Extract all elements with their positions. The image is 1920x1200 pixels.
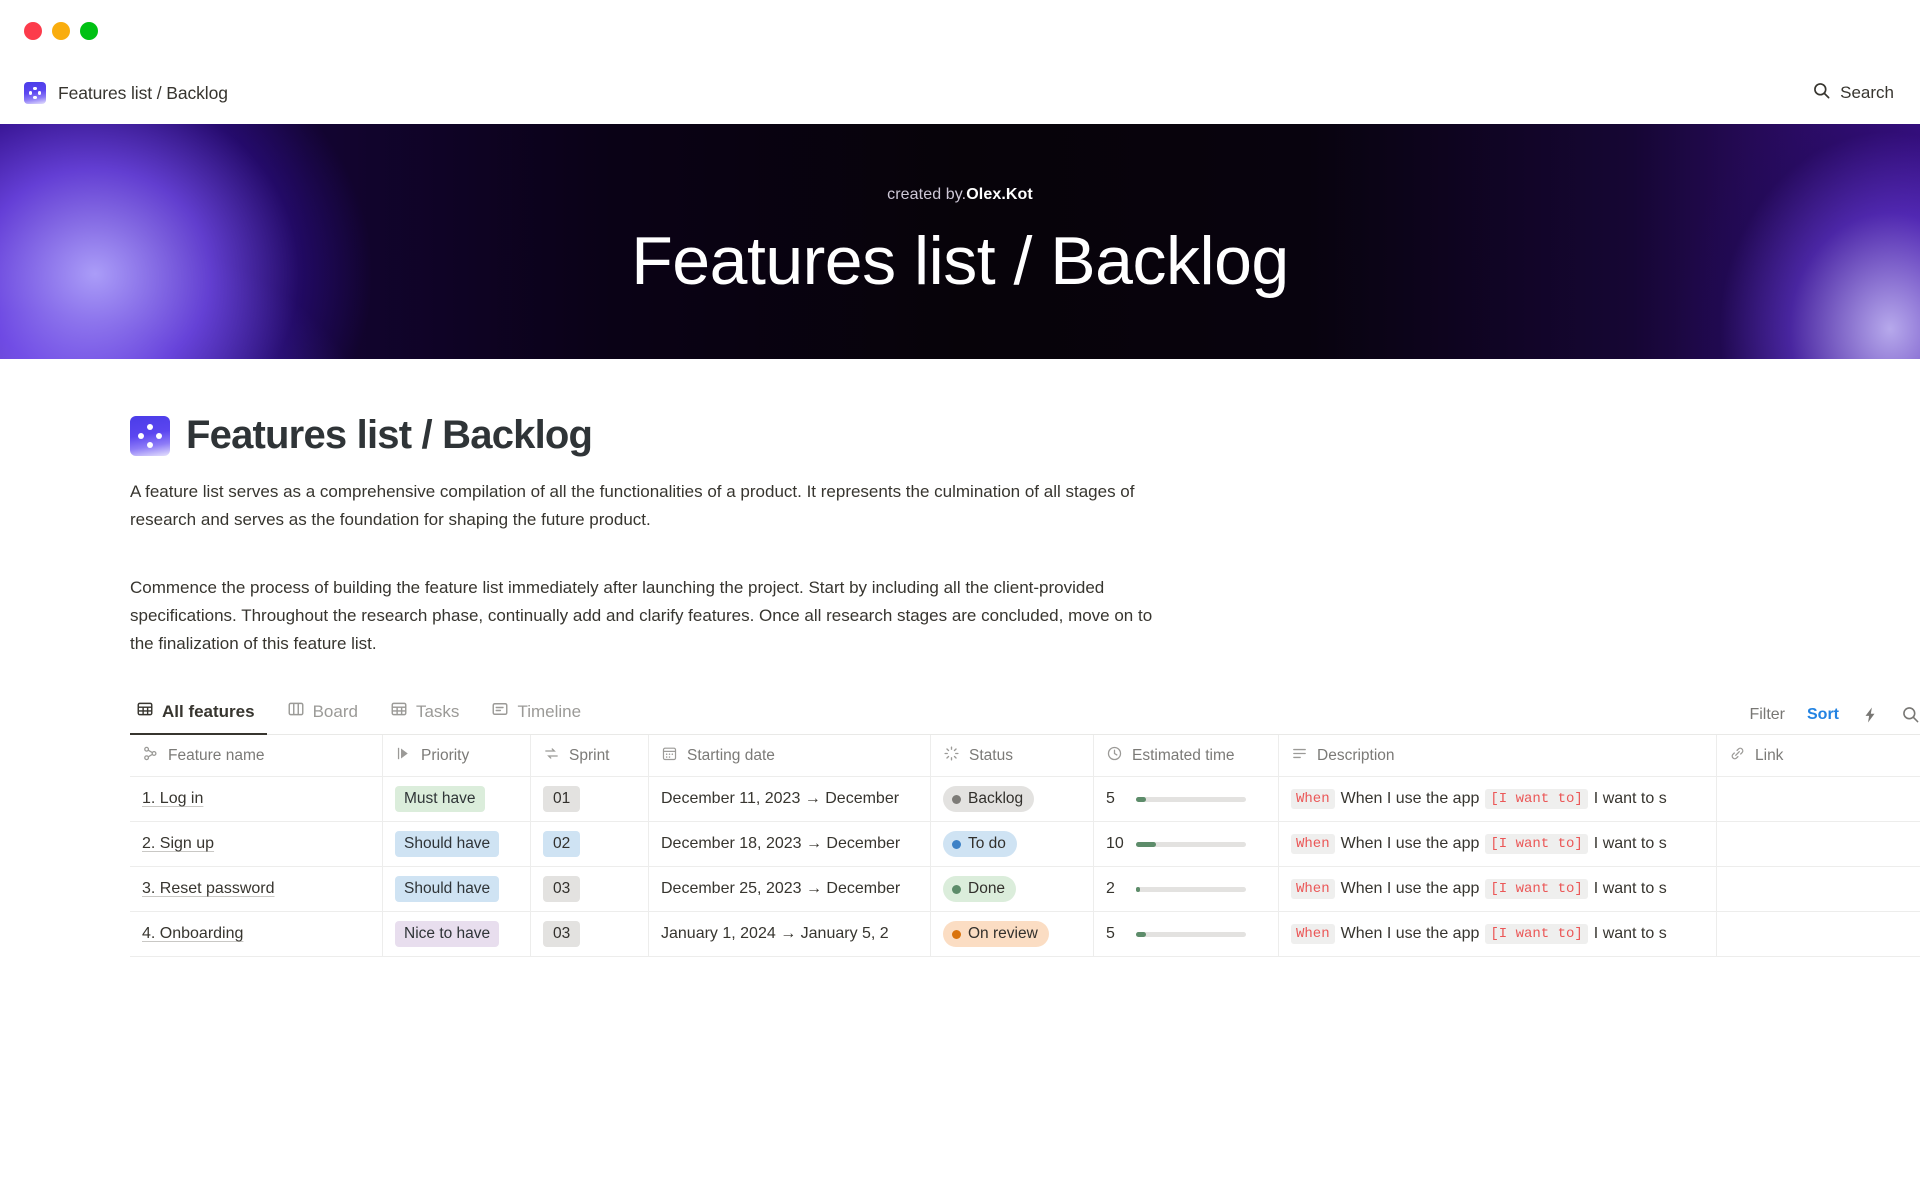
cell-priority[interactable]: Must have [383, 777, 531, 821]
column-header-link[interactable]: Link [1717, 735, 1920, 776]
relation-icon [142, 745, 159, 767]
sparkle-square-icon [130, 416, 170, 456]
breadcrumb[interactable]: Features list / Backlog [24, 82, 228, 104]
text-lines-icon [1291, 745, 1308, 767]
column-header-status[interactable]: Status [931, 735, 1094, 776]
description-tag-when: When [1291, 789, 1335, 809]
banner-credit: created by.Olex.Kot [631, 186, 1288, 204]
refresh-icon [543, 745, 560, 767]
status-label: Done [968, 880, 1005, 898]
cell-sprint[interactable]: 03 [531, 912, 649, 956]
column-header-label: Estimated time [1132, 747, 1235, 765]
cell-starting-date[interactable]: December 25, 2023 → December [649, 867, 931, 911]
column-header-label: Description [1317, 747, 1395, 765]
estimate-value: 10 [1106, 835, 1126, 853]
cell-description[interactable]: When When I use the app [I want to] I wa… [1279, 912, 1717, 956]
view-tabs: All features Board [130, 696, 593, 734]
table-row[interactable]: 4. Onboarding Nice to have 03 January 1,… [130, 912, 1920, 957]
table-row[interactable]: 1. Log in Must have 01 December 11, 2023… [130, 777, 1920, 822]
feature-name-link[interactable]: 4. Onboarding [142, 925, 243, 943]
cell-estimated-time[interactable]: 5 [1094, 912, 1279, 956]
loading-icon [943, 745, 960, 767]
cell-link[interactable] [1717, 777, 1920, 821]
column-header-label: Feature name [168, 747, 265, 765]
description-text-2: I want to s [1594, 835, 1667, 853]
description-text-2: I want to s [1594, 925, 1667, 943]
description-text-1: When I use the app [1341, 925, 1480, 943]
minimize-window-button[interactable] [52, 22, 70, 40]
column-header-label: Sprint [569, 747, 610, 765]
page-paragraph-2: Commence the process of building the fea… [130, 574, 1155, 658]
estimate-value: 2 [1106, 880, 1126, 898]
column-header-label: Priority [421, 747, 469, 765]
cell-sprint[interactable]: 01 [531, 777, 649, 821]
column-header-feature-name[interactable]: Feature name [130, 735, 383, 776]
column-header-starting-date[interactable]: Starting date [649, 735, 931, 776]
view-actions: Filter Sort [1749, 705, 1920, 734]
feature-name-link[interactable]: 1. Log in [142, 790, 203, 808]
sprint-badge: 03 [543, 876, 580, 902]
banner-credit-prefix: created by. [887, 186, 966, 203]
hero-banner: created by.Olex.Kot Features list / Back… [0, 124, 1920, 359]
cell-sprint[interactable]: 02 [531, 822, 649, 866]
cell-sprint[interactable]: 03 [531, 867, 649, 911]
banner-credit-author: Olex.Kot [966, 186, 1033, 203]
estimate-progress-fill [1136, 797, 1146, 802]
sprint-badge: 01 [543, 786, 580, 812]
tab-timeline[interactable]: Timeline [485, 696, 593, 734]
sort-button[interactable]: Sort [1807, 706, 1839, 724]
cell-description[interactable]: When When I use the app [I want to] I wa… [1279, 822, 1717, 866]
lightning-icon[interactable] [1861, 706, 1879, 724]
cell-description[interactable]: When When I use the app [I want to] I wa… [1279, 777, 1717, 821]
description-text-1: When I use the app [1341, 880, 1480, 898]
search-icon[interactable] [1901, 705, 1920, 724]
priority-badge: Should have [395, 831, 499, 857]
banner-title: Features list / Backlog [631, 226, 1288, 297]
table-header-row: Feature name Priority [130, 735, 1920, 777]
cell-priority[interactable]: Should have [383, 822, 531, 866]
features-table: Feature name Priority [130, 735, 1920, 957]
tab-label: Tasks [416, 702, 459, 722]
description-code-i-want-to: [I want to] [1485, 789, 1587, 809]
search-button-label: Search [1840, 83, 1894, 103]
cell-feature-name[interactable]: 3. Reset password [130, 867, 383, 911]
cell-link[interactable] [1717, 867, 1920, 911]
play-flag-icon [395, 745, 412, 767]
description-tag-when: When [1291, 924, 1335, 944]
link-icon [1729, 745, 1746, 767]
status-label: Backlog [968, 790, 1023, 808]
cell-estimated-time[interactable]: 2 [1094, 867, 1279, 911]
feature-name-link[interactable]: 2. Sign up [142, 835, 214, 853]
table-icon [136, 700, 154, 723]
estimate-progress-fill [1136, 932, 1146, 937]
sprint-badge: 02 [543, 831, 580, 857]
page-title: Features list / Backlog [186, 413, 592, 458]
status-dot-icon [952, 795, 961, 804]
estimate-progress-bar [1136, 887, 1246, 892]
maximize-window-button[interactable] [80, 22, 98, 40]
feature-name-link[interactable]: 3. Reset password [142, 880, 275, 898]
estimate-value: 5 [1106, 790, 1126, 808]
priority-badge: Must have [395, 786, 485, 812]
cell-priority[interactable]: Should have [383, 867, 531, 911]
filter-button[interactable]: Filter [1749, 706, 1785, 724]
cell-feature-name[interactable]: 4. Onboarding [130, 912, 383, 956]
tab-board[interactable]: Board [281, 696, 370, 734]
search-icon [1812, 81, 1831, 105]
timeline-icon [491, 700, 509, 723]
cell-feature-name[interactable]: 2. Sign up [130, 822, 383, 866]
tab-all-features[interactable]: All features [130, 696, 267, 734]
tab-label: All features [162, 702, 255, 722]
description-code-i-want-to: [I want to] [1485, 924, 1587, 944]
page-paragraph-1: A feature list serves as a comprehensive… [130, 478, 1155, 534]
tab-label: Board [313, 702, 358, 722]
estimate-value: 5 [1106, 925, 1126, 943]
status-dot-icon [952, 885, 961, 894]
window-titlebar [0, 0, 1920, 62]
cell-starting-date[interactable]: December 18, 2023 → December [649, 822, 931, 866]
priority-badge: Nice to have [395, 921, 499, 947]
cell-description[interactable]: When When I use the app [I want to] I wa… [1279, 867, 1717, 911]
table-row[interactable]: 2. Sign up Should have 02 December 18, 2… [130, 822, 1920, 867]
column-header-label: Link [1755, 747, 1783, 765]
calendar-icon [661, 745, 678, 767]
clock-icon [1106, 745, 1123, 767]
cell-status[interactable]: To do [931, 822, 1094, 866]
description-code-i-want-to: [I want to] [1485, 879, 1587, 899]
close-window-button[interactable] [24, 22, 42, 40]
description-tag-when: When [1291, 879, 1335, 899]
cell-status[interactable]: On review [931, 912, 1094, 956]
cell-starting-date[interactable]: January 1, 2024 → January 5, 2 [649, 912, 931, 956]
column-header-label: Starting date [687, 747, 775, 765]
description-text-1: When I use the app [1341, 790, 1480, 808]
page-body: Features list / Backlog A feature list s… [0, 413, 1920, 957]
description-text-2: I want to s [1594, 880, 1667, 898]
status-dot-icon [952, 840, 961, 849]
cell-status[interactable]: Done [931, 867, 1094, 911]
database-view-bar: All features Board [130, 696, 1920, 735]
column-header-estimated-time[interactable]: Estimated time [1094, 735, 1279, 776]
traffic-lights [24, 22, 98, 40]
description-tag-when: When [1291, 834, 1335, 854]
cell-estimated-time[interactable]: 10 [1094, 822, 1279, 866]
cell-priority[interactable]: Nice to have [383, 912, 531, 956]
app-topbar: Features list / Backlog Search [0, 62, 1920, 124]
cell-feature-name[interactable]: 1. Log in [130, 777, 383, 821]
description-text-2: I want to s [1594, 790, 1667, 808]
cell-estimated-time[interactable]: 5 [1094, 777, 1279, 821]
estimate-progress-bar [1136, 797, 1246, 802]
table-row[interactable]: 3. Reset password Should have 03 Decembe… [130, 867, 1920, 912]
estimate-progress-bar [1136, 842, 1246, 847]
cell-starting-date[interactable]: December 11, 2023 → December [649, 777, 931, 821]
document-title: Features list / Backlog [58, 83, 228, 104]
estimate-progress-fill [1136, 887, 1140, 892]
status-badge: Done [943, 876, 1016, 902]
column-header-label: Status [969, 747, 1013, 765]
tab-tasks[interactable]: Tasks [384, 696, 471, 734]
estimate-progress-bar [1136, 932, 1246, 937]
status-dot-icon [952, 930, 961, 939]
cell-link[interactable] [1717, 822, 1920, 866]
status-label: To do [968, 835, 1006, 853]
column-header-sprint[interactable]: Sprint [531, 735, 649, 776]
sprint-badge: 03 [543, 921, 580, 947]
status-label: On review [968, 925, 1038, 943]
description-text-1: When I use the app [1341, 835, 1480, 853]
priority-badge: Should have [395, 876, 499, 902]
column-header-description[interactable]: Description [1279, 735, 1717, 776]
status-badge: Backlog [943, 786, 1034, 812]
description-code-i-want-to: [I want to] [1485, 834, 1587, 854]
table-icon [390, 700, 408, 723]
search-button[interactable]: Search [1812, 81, 1894, 105]
board-icon [287, 700, 305, 723]
tab-label: Timeline [517, 702, 581, 722]
status-badge: To do [943, 831, 1017, 857]
sparkle-square-icon [24, 82, 46, 104]
column-header-priority[interactable]: Priority [383, 735, 531, 776]
status-badge: On review [943, 921, 1049, 947]
page-header: Features list / Backlog [130, 413, 1920, 458]
cell-status[interactable]: Backlog [931, 777, 1094, 821]
estimate-progress-fill [1136, 842, 1156, 847]
cell-link[interactable] [1717, 912, 1920, 956]
